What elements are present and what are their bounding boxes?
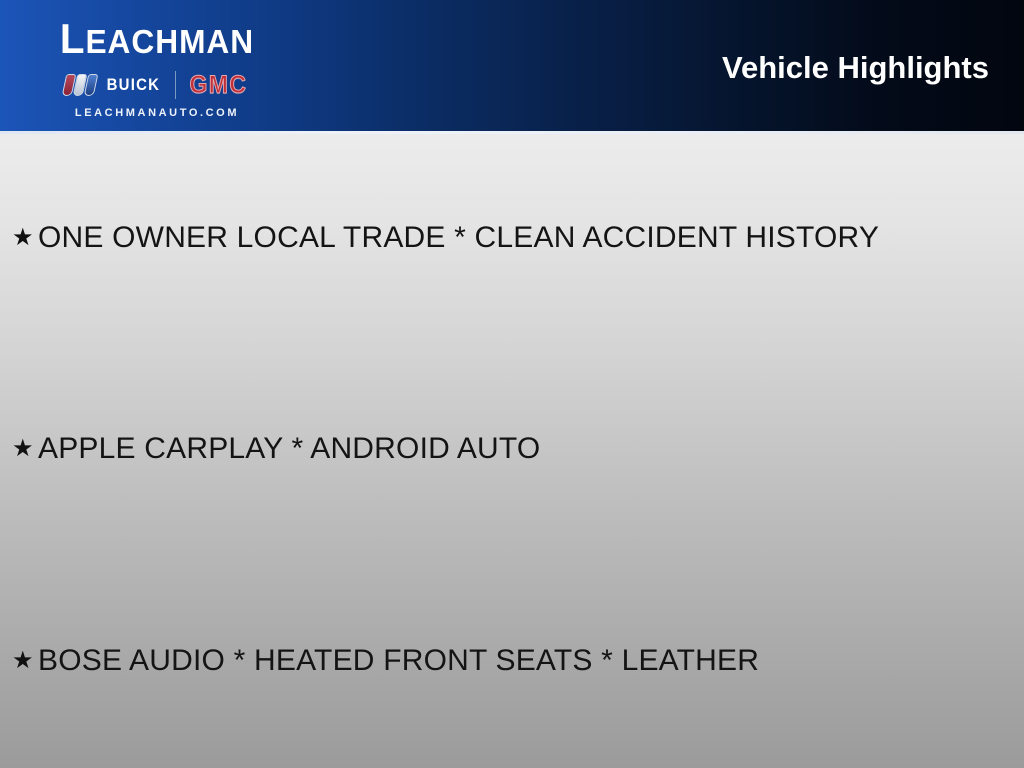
list-item: ★ ONE OWNER LOCAL TRADE * CLEAN ACCIDENT… xyxy=(12,219,879,257)
dealer-logo[interactable]: LEACHMAN BUICK GMC LEACHMANAUTO.COM xyxy=(0,8,310,126)
dealer-name-rest: EACHMAN xyxy=(85,23,254,60)
highlight-text: ONE OWNER LOCAL TRADE * CLEAN ACCIDENT H… xyxy=(38,221,879,255)
page-title: Vehicle Highlights xyxy=(722,50,989,86)
list-item: ★ BOSE AUDIO * HEATED FRONT SEATS * LEAT… xyxy=(12,642,759,680)
star-icon: ★ xyxy=(12,225,38,251)
brand-divider xyxy=(175,71,176,99)
list-item: ★ APPLE CARPLAY * ANDROID AUTO xyxy=(12,430,540,468)
buick-wordmark: BUICK xyxy=(107,75,161,95)
highlight-text: APPLE CARPLAY * ANDROID AUTO xyxy=(38,432,540,466)
highlights-panel: ★ ONE OWNER LOCAL TRADE * CLEAN ACCIDENT… xyxy=(0,134,1024,768)
dealer-name-wordmark: LEACHMAN xyxy=(29,16,284,65)
brand-lockup: BUICK GMC xyxy=(24,68,290,102)
gmc-wordmark: GMC xyxy=(190,71,248,100)
dealer-website-url[interactable]: LEACHMANAUTO.COM xyxy=(24,107,290,119)
highlight-text: BOSE AUDIO * HEATED FRONT SEATS * LEATHE… xyxy=(38,644,759,678)
star-icon: ★ xyxy=(12,648,38,674)
header-bar: LEACHMAN BUICK GMC LEACHMANAUTO.COM Vehi… xyxy=(0,0,1024,131)
star-icon: ★ xyxy=(12,436,38,462)
dealer-name-initial: L xyxy=(60,15,86,62)
vehicle-highlights-slide: LEACHMAN BUICK GMC LEACHMANAUTO.COM Vehi… xyxy=(0,0,1024,768)
buick-trishield-icon xyxy=(62,74,99,96)
